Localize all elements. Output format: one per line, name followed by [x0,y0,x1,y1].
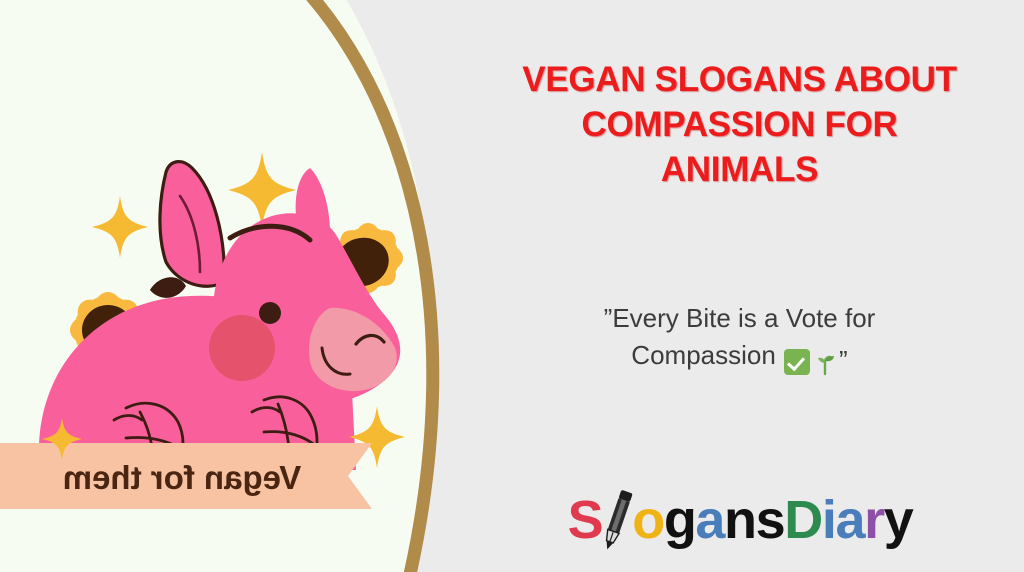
logo-letter-r: r [864,490,884,550]
page-title-line-3: ANIMALS [463,148,1016,193]
quote-emoji-group: ” [783,342,848,379]
pig-eye [259,302,281,324]
quote-block: ”Every Bite is a Vote for Compassion ” [477,300,1002,379]
pen-icon [602,490,632,550]
page-title-line-2: COMPASSION FOR [463,103,1016,148]
quote-close-quote: ” [839,345,848,375]
banner-canvas: Vegan for them VEGAN SLOGANS ABOUT COMPA… [0,0,1024,572]
ribbon-text-mirrored: Vegan for them [63,459,301,496]
quote-line-2-text: Compassion [631,340,783,370]
logo-letter-a1: a [695,490,724,550]
logo-letter-g: g [664,490,696,550]
illustration-panel: Vegan for them [0,0,500,572]
seedling-icon [812,349,838,375]
page-title-line-1: VEGAN SLOGANS ABOUT [463,58,1016,103]
logo-letter-s: s [756,490,785,550]
logo-letter-o: o [632,490,664,550]
ribbon-banner: Vegan for them [0,443,372,509]
white-check-mark-icon [784,349,810,375]
logo-letter-y: y [884,490,913,550]
logo-letter-n: n [724,490,756,550]
content-column: VEGAN SLOGANS ABOUT COMPASSION FOR ANIMA… [455,0,1024,572]
pig-cheek [209,315,275,381]
site-logo[interactable]: SogansDiary [495,484,985,556]
logo-letter-D: D [784,490,822,550]
quote-line-2: Compassion ” [477,337,1002,379]
logo-letter-a2: a [836,490,865,550]
pig-illustration-svg: Vegan for them [0,0,500,572]
page-title: VEGAN SLOGANS ABOUT COMPASSION FOR ANIMA… [463,58,1016,192]
logo-letter-S: S [568,490,603,550]
logo-letter-i: i [822,490,836,550]
quote-line-1: ”Every Bite is a Vote for [477,300,1002,337]
